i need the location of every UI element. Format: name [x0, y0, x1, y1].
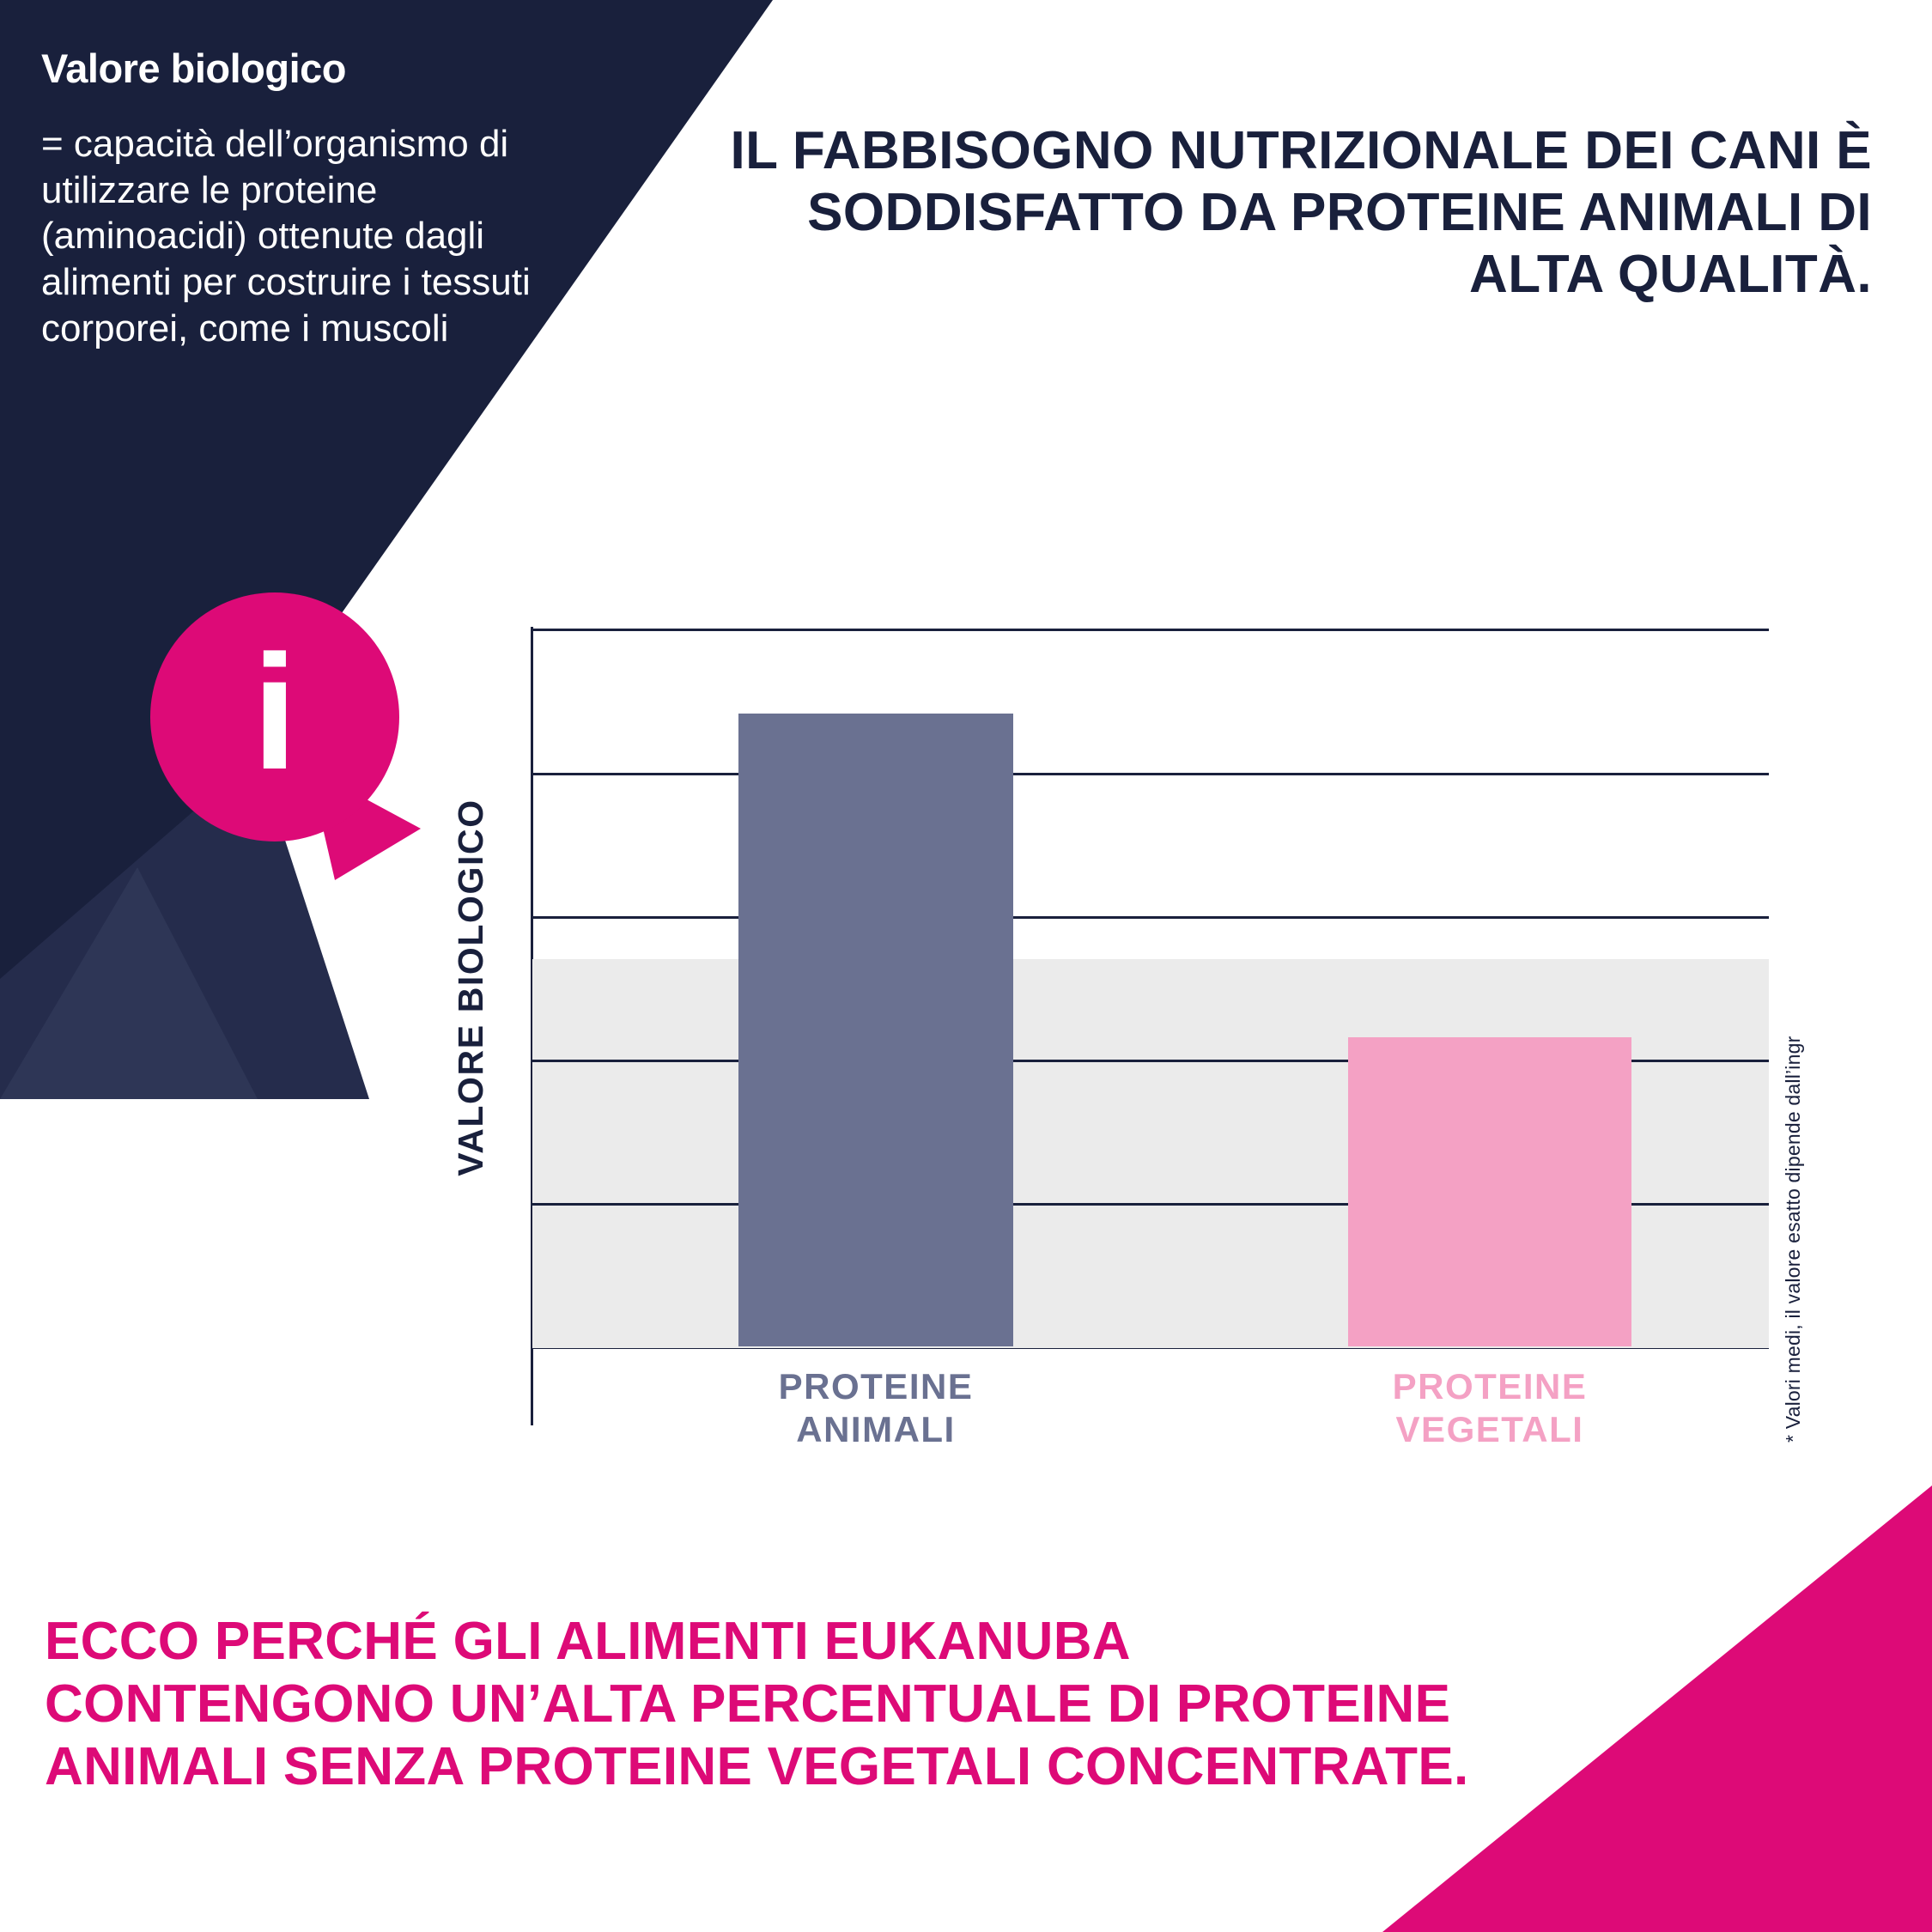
- x-tick-label-line: PROTEINE: [687, 1365, 1065, 1408]
- bar-proteine-vegetali: [1348, 1037, 1631, 1346]
- closing-statement: ECCO PERCHÉ GLI ALIMENTI EUKANUBA CONTEN…: [45, 1610, 1504, 1798]
- gridline: [532, 773, 1769, 775]
- x-tick-label-line: ANIMALI: [687, 1408, 1065, 1451]
- definition-title: Valore biologico: [41, 45, 591, 92]
- bar-proteine-animali: [738, 714, 1013, 1346]
- x-tick-label-line: PROTEINE: [1297, 1365, 1683, 1408]
- bar-chart: VALORE BIOLOGICO PROTEINE ANIMALI PROTEI…: [447, 627, 1786, 1348]
- definition-block: Valore biologico = capacità dell’organis…: [41, 45, 591, 351]
- info-icon: i: [150, 592, 399, 841]
- gridline: [532, 629, 1769, 631]
- definition-body: = capacità dell’organismo di utilizzare …: [41, 121, 582, 351]
- gridline: [532, 916, 1769, 919]
- x-tick-label-proteine-animali: PROTEINE ANIMALI: [687, 1365, 1065, 1452]
- plot-region: PROTEINE ANIMALI PROTEINE VEGETALI: [532, 627, 1769, 1348]
- info-bubble: i: [150, 592, 399, 841]
- x-tick-label-proteine-vegetali: PROTEINE VEGETALI: [1297, 1365, 1683, 1452]
- page-title: IL FABBISOGNO NUTRIZIONALE DEI CANI È SO…: [670, 120, 1872, 306]
- chart-footnote: * Valori medi, il valore esatto dipende …: [1782, 910, 1805, 1443]
- x-tick-label-line: VEGETALI: [1297, 1408, 1683, 1451]
- y-axis-title: VALORE BIOLOGICO: [447, 627, 495, 1348]
